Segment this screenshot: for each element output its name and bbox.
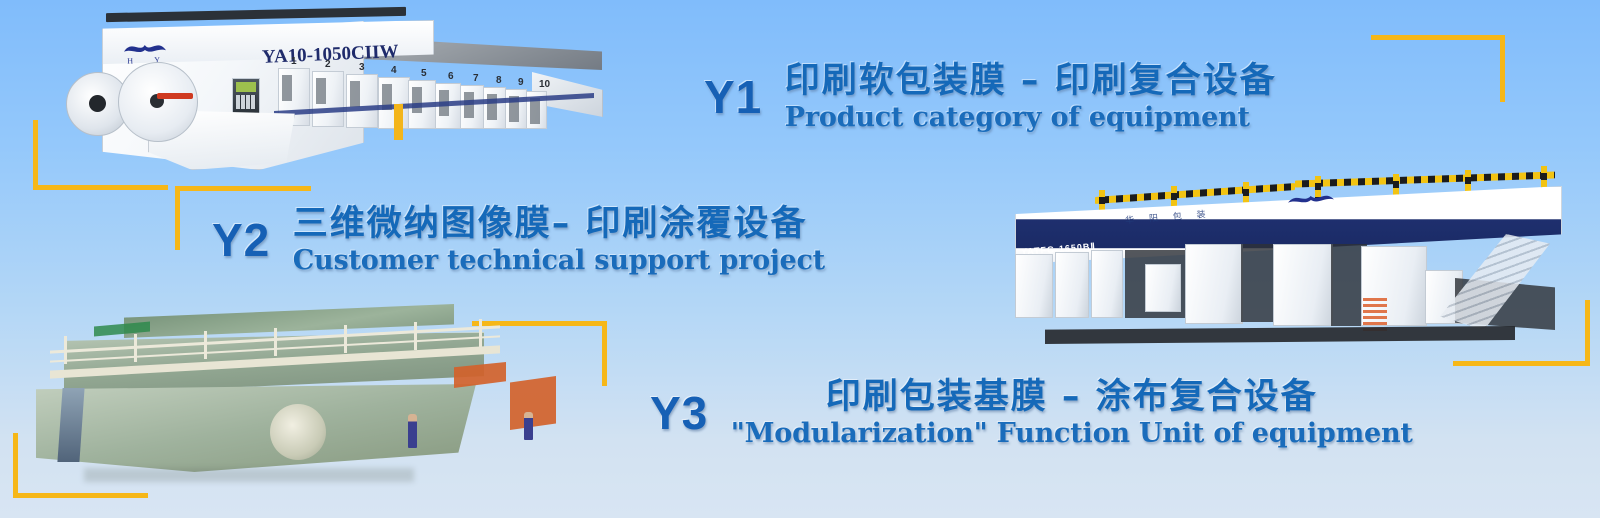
category-block-y3: Y3 印刷包装基膜 – 涂布复合设备 "Modularization" Func… bbox=[650, 378, 1413, 448]
console-keypad bbox=[236, 95, 256, 109]
press-rewind-roll bbox=[118, 62, 198, 142]
bracket-middle-vertical bbox=[602, 321, 607, 386]
machine-base-frame bbox=[1045, 326, 1515, 344]
railing-bar bbox=[1295, 171, 1555, 187]
bracket-top-left-horizontal bbox=[33, 185, 168, 190]
category-block-y1: Y1 印刷软包装膜 – 印刷复合设备 Product category of e… bbox=[704, 62, 1277, 132]
press-unit-number: 8 bbox=[496, 75, 502, 86]
press-unit: 9 bbox=[505, 89, 527, 129]
bracket-bottom-left-horizontal bbox=[13, 493, 148, 498]
machine-shadow bbox=[84, 468, 414, 482]
press-unit: 2 bbox=[312, 71, 344, 127]
console-screen bbox=[236, 82, 256, 92]
bracket-y2-vertical bbox=[175, 186, 180, 250]
machine-body-block bbox=[1185, 244, 1243, 324]
press-unit-number: 3 bbox=[359, 62, 365, 73]
machine-body-block bbox=[1055, 252, 1089, 318]
catwalk-post bbox=[134, 334, 137, 362]
press-top-rail bbox=[106, 7, 406, 22]
bracket-y2-horizontal bbox=[175, 186, 311, 191]
orange-equipment bbox=[510, 376, 556, 430]
press-yellow-marker bbox=[394, 104, 403, 140]
category-title-cn-y3: 印刷包装基膜 – 涂布复合设备 bbox=[731, 378, 1413, 417]
bracket-top-left-vertical bbox=[33, 120, 38, 190]
press-unit-number: 4 bbox=[391, 65, 397, 76]
catwalk-post bbox=[344, 325, 347, 353]
catwalk-post bbox=[479, 319, 482, 347]
press-unit-number: 2 bbox=[325, 59, 331, 70]
catwalk-post bbox=[414, 322, 417, 350]
bracket-right-horizontal bbox=[1453, 361, 1590, 366]
coating-laminating-machine-image: 华 阳 包 装 YATFG-1650BⅡ bbox=[985, 158, 1590, 358]
category-text-y3: 印刷包装基膜 – 涂布复合设备 "Modularization" Functio… bbox=[731, 378, 1413, 448]
coating-drum bbox=[270, 404, 326, 460]
catwalk-post bbox=[64, 336, 67, 364]
category-tag-y3: Y3 bbox=[650, 386, 708, 440]
press-unit-number: 10 bbox=[539, 79, 550, 90]
press-unit-number: 1 bbox=[291, 56, 297, 67]
hy-bird-logo-icon bbox=[1284, 188, 1337, 214]
machine-body-block bbox=[1145, 264, 1181, 312]
category-tag-y1: Y1 bbox=[704, 70, 762, 124]
catwalk-post bbox=[274, 328, 277, 356]
operator-figure bbox=[408, 414, 417, 448]
machine-body-block bbox=[1273, 244, 1333, 326]
operator-figure bbox=[524, 412, 533, 440]
bracket-bottom-left-vertical bbox=[13, 433, 18, 498]
railing-bar bbox=[1095, 183, 1295, 204]
machine-body-block bbox=[1091, 250, 1123, 318]
bracket-top-right-horizontal bbox=[1371, 35, 1505, 40]
press-control-console bbox=[232, 78, 260, 114]
machine-interior-gap bbox=[1241, 244, 1275, 322]
rotogravure-printing-press-image: H Y YA10-1050CIIW 1 2 3 4 5 6 7 8 9 10 bbox=[62, 6, 602, 178]
product-category-banner: H Y YA10-1050CIIW 1 2 3 4 5 6 7 8 9 10 bbox=[0, 0, 1600, 518]
category-title-en-y1: Product category of equipment bbox=[785, 103, 1277, 132]
category-title-cn-y1: 印刷软包装膜 – 印刷复合设备 bbox=[785, 62, 1277, 101]
flexible-hose bbox=[1363, 298, 1387, 332]
category-title-en-y2: Customer technical support project bbox=[293, 246, 825, 275]
press-unit: 3 bbox=[346, 74, 378, 128]
machine-body-block bbox=[1015, 254, 1053, 318]
paper-coating-production-line-image bbox=[24, 302, 569, 488]
category-title-en-y3: "Modularization" Function Unit of equipm… bbox=[731, 419, 1413, 448]
category-block-y2: Y2 三维微纳图像膜– 印刷涂覆设备 Customer technical su… bbox=[212, 205, 825, 275]
category-title-cn-y2: 三维微纳图像膜– 印刷涂覆设备 bbox=[293, 205, 825, 244]
svg-text:H: H bbox=[127, 56, 133, 65]
bracket-top-right-vertical bbox=[1500, 35, 1505, 102]
press-unit-number: 6 bbox=[448, 71, 454, 82]
press-unit-number: 5 bbox=[421, 68, 427, 79]
category-tag-y2: Y2 bbox=[212, 213, 270, 267]
press-unit: 7 bbox=[460, 85, 484, 129]
category-text-y1: 印刷软包装膜 – 印刷复合设备 Product category of equi… bbox=[785, 62, 1277, 132]
press-unit-number: 9 bbox=[518, 77, 524, 88]
press-unit-number: 7 bbox=[473, 73, 479, 84]
catwalk-post bbox=[204, 331, 207, 359]
press-unit: 8 bbox=[483, 87, 506, 129]
category-text-y2: 三维微纳图像膜– 印刷涂覆设备 Customer technical suppo… bbox=[293, 205, 825, 275]
hy-bird-logo-svg bbox=[1284, 188, 1337, 214]
